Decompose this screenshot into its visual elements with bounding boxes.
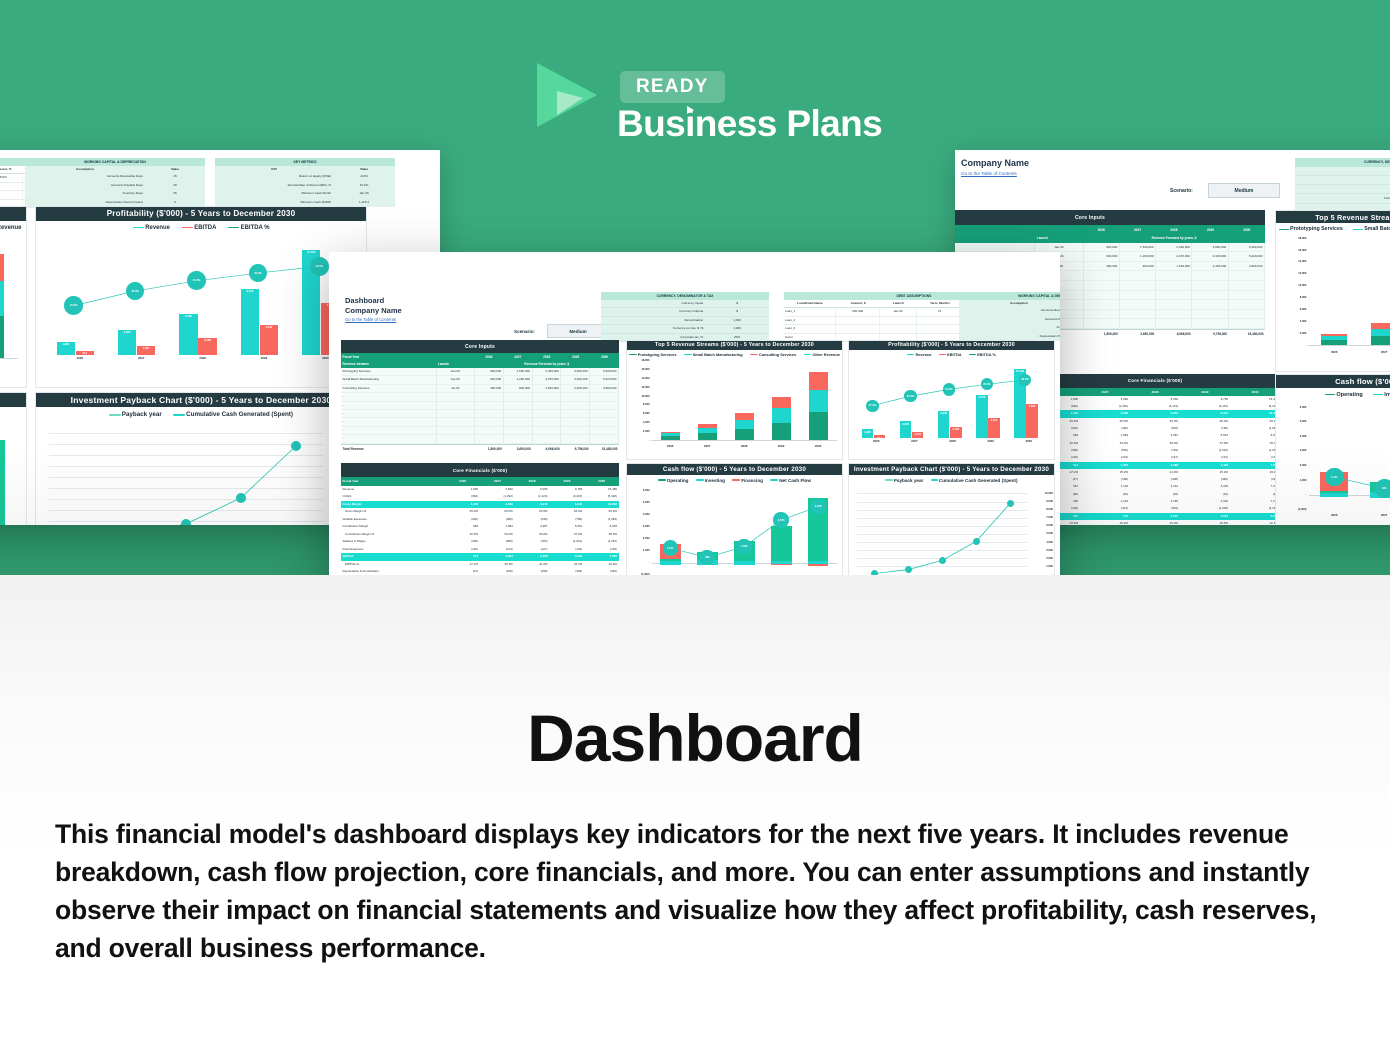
cf-value: (649) <box>1130 505 1180 512</box>
x-tick-label: 2029 <box>763 444 800 448</box>
debt-cell <box>836 317 880 324</box>
cf-value: (127) <box>1130 454 1180 461</box>
cf-value: 4,020 <box>1180 498 1230 505</box>
stream-value <box>504 410 533 417</box>
panel-row-label: Minimum Cash Month <box>215 190 333 197</box>
stream-value: 5,220,000 <box>590 376 619 383</box>
bar-segment <box>0 281 4 316</box>
cf-value: (1,084) <box>584 516 619 524</box>
stream-value <box>1156 281 1192 290</box>
bar-segment <box>0 254 4 281</box>
scenario-select[interactable]: Medium <box>547 324 609 338</box>
plot-area <box>0 238 18 359</box>
cf-value: (783) <box>1130 447 1180 454</box>
forecast-label: Revenue Forecast by years, $ <box>474 362 619 366</box>
core-inputs-row: Consulting ServicesJul-26360,000900,0001… <box>341 385 619 393</box>
stream-value: 2,466,000 <box>1192 262 1228 271</box>
stream-value <box>1156 310 1192 319</box>
cf-value: (131) <box>1180 454 1230 461</box>
stream-launch <box>437 435 475 442</box>
dashboard-heading: Dashboard <box>345 296 384 305</box>
currency-row-label: Currency Outputs <box>601 308 705 315</box>
stream-value <box>590 435 619 442</box>
panel-row-label: Internal Rate of Return (IRR), % <box>215 182 333 189</box>
legend-swatch-icon <box>804 354 812 356</box>
cf-value: 65.0% <box>550 508 585 516</box>
cf-value: 20.9% <box>1080 520 1130 525</box>
cf-row: Contribution Margin %52.0%54.0%56.0%57.0… <box>341 531 619 539</box>
total-value: 6,066,000 <box>1156 330 1192 340</box>
stream-value: 3,960,000 <box>561 368 590 375</box>
stream-value <box>475 402 504 409</box>
legend-swatch-icon <box>1353 229 1363 231</box>
cf-value: 32.5% <box>1230 520 1280 525</box>
stream-value: 6,300,000 <box>1229 243 1265 252</box>
debt-cell: Jan-26 <box>880 308 916 315</box>
legend-item: Prototyping Services <box>1279 226 1343 232</box>
legend-label: Small Batch Manufacturing <box>1364 226 1390 232</box>
currency-row-value: $ <box>705 308 769 315</box>
cf-row: Depreciation & Amortization(47)(168)(298… <box>341 568 619 575</box>
core-financials-year-row: Fiscal Year20262027202820292030 <box>341 477 619 485</box>
chart-title: Top 5 Revenue Streams ($'000) - 5 Years … <box>1276 211 1390 223</box>
stream-value <box>1120 310 1156 319</box>
cf-row: EBITDA5141,3042,4884,4207,592 <box>341 553 619 561</box>
cf-row-label: EBITDA % <box>341 561 445 569</box>
panel-row-label: Accounts Receivable Days <box>959 307 1060 314</box>
debt-header-cell: Amount, $ <box>836 300 880 307</box>
cf-value: 9,756 <box>550 486 585 494</box>
stream-value <box>533 393 562 400</box>
stream-value <box>1192 281 1228 290</box>
cf-row: 4671,1362,1914,0397,201 <box>1030 483 1280 490</box>
panel-title: KEY METRICS <box>215 158 395 166</box>
debt-cell <box>880 325 916 332</box>
total-value: 1,890,000 <box>474 445 503 454</box>
ebitda-percent-bubble: 41.0% <box>187 271 206 290</box>
legend-label: Other Revenue <box>0 225 21 231</box>
stream-value: 1,530,000 <box>504 368 533 375</box>
cf-value: (1,010) <box>550 538 585 546</box>
cf-value: 65.0% <box>1180 418 1230 425</box>
cf-value: 6,341 <box>550 501 585 509</box>
chart-investment-payback: Investment Payback Chart ($'000) - 5 Yea… <box>848 463 1055 575</box>
core-inputs-year: 2026 <box>1083 228 1119 232</box>
cf-value: 1,304 <box>480 553 515 561</box>
cf-value: 54.0% <box>480 531 515 539</box>
spreadsheet-preview-center[interactable]: DashboardCompany NameGo to the Table of … <box>329 252 1060 575</box>
cf-value: 1,890 <box>445 486 480 494</box>
panel-title: WORKING CAPITAL & DEPRECIATION <box>959 292 1060 300</box>
panel-row-value: 16.2% <box>333 182 395 189</box>
stream-value <box>1120 281 1156 290</box>
total-value: 15,480,000 <box>1229 330 1265 340</box>
forecast-label: Revenue Forecast by years, $ <box>1083 236 1265 240</box>
cf-value: 65.0% <box>1080 418 1130 425</box>
stream-value <box>1120 291 1156 300</box>
stream-value <box>1229 291 1265 300</box>
cf-value: (382) <box>550 568 585 575</box>
y-tick-label: 10,000 <box>627 395 650 398</box>
core-inputs-year: 2026 <box>474 355 503 359</box>
currency-row: Currency ex rate, $ / $1,000 <box>601 325 769 333</box>
cf-year: 2027 <box>1080 390 1130 394</box>
cf-value: 27.2% <box>445 561 480 569</box>
stream-name: - <box>341 435 437 442</box>
cf-value: 2,399 <box>480 501 515 509</box>
stream-value <box>533 410 562 417</box>
cf-value: 3,387 <box>1130 432 1180 439</box>
net-cash-flow-line <box>0 393 26 525</box>
chart-cash-flow: Cash flow ($'000) - 5 Years to December … <box>626 463 843 575</box>
panel-header-cell: Assumption <box>959 300 1060 307</box>
panel-row: Accounts Payable Days28 <box>959 316 1060 324</box>
debt-cell: 500,000 <box>836 308 880 315</box>
core-inputs-total-row: Total Revenue1,890,0003,690,0006,066,000… <box>341 444 619 454</box>
debt-cell <box>880 317 916 324</box>
cf-value: 10,062 <box>584 501 619 509</box>
cf-value: 65.0% <box>515 508 550 516</box>
cf-value: 57.0% <box>1180 440 1230 447</box>
cf-value: 25.0% <box>1130 520 1180 525</box>
cf-value: (1,251) <box>1230 447 1280 454</box>
cumulative-cash-line <box>36 393 366 525</box>
cf-value: 4,039 <box>1180 483 1230 490</box>
cf-value: 58.0% <box>584 531 619 539</box>
cf-row: Revenue1,8903,6906,0669,75615,480 <box>341 486 619 494</box>
stream-value: 900,000 <box>1084 243 1120 252</box>
chart-profitability: Profitability ($'000) - 5 Years to Decem… <box>848 340 1055 460</box>
stream-value: 3,330,000 <box>1192 252 1228 261</box>
cf-value: 52.0% <box>445 531 480 539</box>
cf-row-label: Gross Margin <box>341 501 445 509</box>
stream-value: 2,466,000 <box>1156 243 1192 252</box>
stream-value <box>1192 271 1228 280</box>
panel-row-label: Depreciation Period (Years) <box>959 333 1060 340</box>
cumulative-cash-point <box>181 519 191 525</box>
core-inputs-row: - <box>341 393 619 401</box>
stream-launch: Jul-26 <box>437 385 475 392</box>
cf-year: 2028 <box>515 479 550 483</box>
cf-value: 4,420 <box>1180 462 1230 469</box>
key-metrics-panel-left: KEY METRICSKPIValueReturn on Equity (ROE… <box>215 158 395 207</box>
stream-name: Small Batch Manufacturing <box>341 376 437 383</box>
currency-row: Currency Outputs$ <box>601 308 769 316</box>
y-tick-label: 4,000 <box>1276 320 1306 323</box>
cf-value: 1,104 <box>1080 498 1130 505</box>
plot-area <box>652 361 837 440</box>
stream-value <box>561 410 590 417</box>
page-title: Dashboard <box>0 700 1390 776</box>
chart-legend: Prototyping ServicesSmall Batch Manufact… <box>1276 225 1390 235</box>
cf-value: (12) <box>1230 491 1280 498</box>
cf-value: (331) <box>1080 505 1130 512</box>
stream-value <box>561 402 590 409</box>
cf-value: (780) <box>550 516 585 524</box>
panel-row: Accounts Receivable Days15 <box>959 307 1060 315</box>
y-tick-label: 16,000 <box>1276 249 1306 252</box>
legend-label: Other Revenue <box>812 352 840 357</box>
currency-row: Currency Inputs$ <box>1295 167 1390 176</box>
chart-revenue-streams: Top 5 Revenue Streams ($'000) - 5 Years … <box>626 340 843 460</box>
panel-row-label: Depreciation Period (Years) <box>25 199 145 206</box>
cf-value: (32) <box>1080 491 1130 498</box>
legend-swatch-icon <box>1279 229 1289 231</box>
x-tick-label: 2027 <box>689 444 726 448</box>
panel-title: WORKING CAPITAL & DEPRECIATION <box>25 158 205 166</box>
currency-panel: CURRENCY, DENOMINATOR & TAXCurrency Inpu… <box>1295 158 1390 213</box>
cf-value: 9,756 <box>1180 396 1230 403</box>
stream-value <box>1084 291 1120 300</box>
ebitda-percent-line <box>36 207 366 387</box>
table-of-contents-link[interactable]: Go to the Table of Contents <box>345 317 396 322</box>
cf-row: (662)(1,292)(2,123)(3,415)(5,418) <box>1030 403 1280 410</box>
debt-header-cell: Interest, % <box>0 166 23 173</box>
cf-value: (298) <box>515 568 550 575</box>
core-financials-block: Core Financials ($'000)20262027202820292… <box>1030 374 1280 525</box>
y-tick-label: 14,000 <box>627 377 650 380</box>
stream-value <box>1120 271 1156 280</box>
stream-name: Prototyping Services <box>955 243 1035 252</box>
debt-cell <box>0 183 23 190</box>
stream-value <box>475 427 504 434</box>
cf-value: 65.0% <box>480 508 515 516</box>
stream-value <box>504 418 533 425</box>
cf-row: (129)(331)(649)(1,206)(2,157) <box>1030 505 1280 512</box>
core-inputs-year: 2028 <box>532 355 561 359</box>
stream-value <box>1084 271 1120 280</box>
chart-investment-payback-left: Investment Payback Chart ($'000) - 5 Yea… <box>35 392 367 525</box>
cf-row-label: Fixed Expenses <box>341 546 445 554</box>
panel-header-cell: Assumption <box>25 166 145 173</box>
stream-value: 900,000 <box>1120 262 1156 271</box>
debt-header-cell: Term, Months <box>917 300 964 307</box>
currency-row-label: Currency ex rate, $ / $ <box>601 325 705 332</box>
core-inputs-streams-row: Revenue streamsLaunchRevenue Forecast by… <box>955 234 1265 243</box>
stream-value <box>533 435 562 442</box>
currency-panel-title: CURRENCY, DENOMINATOR & TAX <box>601 292 769 300</box>
cf-value: 15,480 <box>584 486 619 494</box>
scenario-label-right: Scenario: <box>1170 188 1193 194</box>
chart-legend: Prototyping ServicesSmall Batch Manufact… <box>0 222 26 233</box>
panel-row: Accounts Receivable Days15 <box>25 173 205 181</box>
cf-value: 3,690 <box>480 486 515 494</box>
panel-header-row: KPIValue <box>215 166 395 173</box>
stream-value: 3,960,000 <box>1229 262 1265 271</box>
total-value: 3,690,000 <box>1119 330 1155 340</box>
panel-row-label: Accounts Payable Days <box>25 182 145 189</box>
cf-value: (382) <box>1180 476 1230 483</box>
total-value: 6,066,000 <box>532 445 561 454</box>
stream-name: Prototyping Services <box>341 368 437 375</box>
chart-cash-flow-right: Cash flow ($'000) - 5 Years to December … <box>1275 374 1390 525</box>
cumulative-cash-point <box>939 557 946 564</box>
core-inputs-year-row: Fiscal Year20262027202820292030 <box>341 353 619 360</box>
cf-value: 1,304 <box>1080 462 1130 469</box>
cf-row-label: Salaries & Wages <box>341 538 445 546</box>
cf-value: (1,292) <box>480 493 515 501</box>
stream-value: 1,530,000 <box>533 385 562 392</box>
cf-value: (124) <box>1080 454 1130 461</box>
cf-row: 1,2292,3993,9436,34110,062 <box>1030 410 1280 417</box>
cf-row: 4301,1042,1654,0207,189 <box>1030 498 1280 505</box>
legend-swatch-icon <box>629 354 637 356</box>
cf-value: 41.0% <box>1130 469 1180 476</box>
core-inputs-title: Core Inputs <box>955 210 1265 225</box>
bar-segment <box>809 390 828 413</box>
scenario-select-right[interactable]: Medium <box>1208 183 1280 198</box>
cf-value: (246) <box>445 516 480 524</box>
currency-row-label: Denomination <box>601 317 705 324</box>
cf-value: (480) <box>1080 425 1130 432</box>
legend-label: Prototyping Services <box>1290 226 1343 232</box>
brand-badge: READY <box>620 71 725 103</box>
cf-value: 2,488 <box>515 553 550 561</box>
bar-segment <box>735 420 754 429</box>
cf-value: (662) <box>445 493 480 501</box>
ebitda-percent-bubble: 41.0% <box>943 383 955 395</box>
stream-value: 360,000 <box>475 385 504 392</box>
fiscal-year-label: Fiscal Year <box>955 228 1036 232</box>
legend-swatch-icon <box>750 354 758 356</box>
stream-launch <box>437 410 475 417</box>
bar-segment <box>1371 329 1390 337</box>
total-label: Total Revenue <box>341 445 474 454</box>
cf-value: (1,251) <box>584 538 619 546</box>
cf-value: 2,399 <box>1080 410 1130 417</box>
cf-value: 54.0% <box>1080 440 1130 447</box>
cf-value: 5,561 <box>550 523 585 531</box>
page-description: This financial model's dashboard display… <box>55 815 1345 968</box>
cf-row: (120)(124)(127)(131)(135) <box>1030 454 1280 461</box>
bar-segment <box>0 316 4 358</box>
cf-row: 9831,9833,3875,5618,978 <box>1030 432 1280 439</box>
cf-year: 2029 <box>1180 390 1230 394</box>
y-tick-label: 6,000 <box>627 412 650 415</box>
stream-value: 3,960,000 <box>590 385 619 392</box>
core-inputs-year: 2029 <box>1192 228 1228 232</box>
cf-row: Gross Margin1,2292,3993,9436,34110,062 <box>341 501 619 509</box>
y-tick-label: 12,000 <box>1276 272 1306 275</box>
panel-row-value: 3 <box>145 199 205 206</box>
cf-value: (5,418) <box>584 493 619 501</box>
table-of-contents-link-right[interactable]: Go to the Table of Contents <box>961 171 1017 176</box>
legend-label: Small Batch Manufacturing <box>693 352 743 357</box>
legend-swatch-icon <box>684 354 692 356</box>
bar-segment <box>1321 336 1347 340</box>
panel-header-cell: KPI <box>215 166 333 173</box>
cf-value: (5,418) <box>1230 403 1280 410</box>
net-cash-flow-bubble: 4,658 <box>810 499 825 514</box>
stream-value: 1,530,000 <box>1120 243 1156 252</box>
cumulative-cash-point <box>236 493 246 503</box>
cf-value: (26) <box>1130 491 1180 498</box>
cumulative-cash-point <box>905 566 912 573</box>
stream-value <box>1192 310 1228 319</box>
core-inputs-year: 2027 <box>1119 228 1155 232</box>
stream-value <box>504 435 533 442</box>
cf-value: 5,032 <box>1230 513 1280 520</box>
y-tick-label: - <box>627 439 650 442</box>
debt-cell: Loan_3 <box>784 325 836 332</box>
cf-value: 1,515 <box>1130 513 1180 520</box>
panel-row: Inventory Days45 <box>959 324 1060 332</box>
core-inputs-row: - <box>341 435 619 443</box>
cf-row: Variable Expenses(246)(480)(546)(780)(1,… <box>341 516 619 524</box>
cf-value: 35.3% <box>1080 469 1130 476</box>
chart-title: Top 5 Revenue Streams ($'000) - 5 Years … <box>627 341 842 350</box>
panel-row-label: Accounts Receivable Days <box>25 173 145 180</box>
bar-segment <box>1321 334 1347 336</box>
stream-value <box>533 427 562 434</box>
core-financials-title: Core Financials ($'000) <box>1030 374 1280 388</box>
cf-value: 7,201 <box>1230 483 1280 490</box>
cf-value: 49.0% <box>1230 469 1280 476</box>
bar-segment <box>735 429 754 440</box>
legend-item: Small Batch Manufacturing <box>684 352 743 357</box>
panel-header-row: AssumptionValue <box>959 300 1060 307</box>
cf-row-label: Depreciation & Amortization <box>341 568 445 575</box>
panel-row-value: 28 <box>145 182 205 189</box>
cf-year: 2027 <box>480 479 515 483</box>
cf-value: 49.0% <box>584 561 619 569</box>
cf-value: 1,983 <box>1080 432 1130 439</box>
panel-row: Return on Equity (ROE)13.84 <box>215 173 395 181</box>
core-inputs-year: 2030 <box>590 355 619 359</box>
x-tick-label: 2027 <box>1359 350 1390 354</box>
stream-name: - <box>341 418 437 425</box>
cf-value: 56.0% <box>515 531 550 539</box>
bar-segment <box>1371 323 1390 328</box>
cf-row: Fixed Expenses(120)(124)(127)(131)(135) <box>341 546 619 554</box>
ebitda-percent-bubble: 27.2% <box>866 400 878 412</box>
cf-value: 1,229 <box>445 501 480 509</box>
stream-value <box>475 418 504 425</box>
cf-value: (391) <box>584 568 619 575</box>
cf-value: (1,010) <box>1180 447 1230 454</box>
y-tick-label: 2,000 <box>627 430 650 433</box>
y-tick-label: 18,000 <box>1276 237 1306 240</box>
stream-value: 3,960,000 <box>1192 243 1228 252</box>
cf-value: 7,189 <box>1230 498 1280 505</box>
cf-value: (2,157) <box>1230 505 1280 512</box>
total-value: 1,890,000 <box>1083 330 1119 340</box>
cf-row: (47)(168)(298)(382)(391) <box>1030 476 1280 483</box>
stream-value <box>533 418 562 425</box>
cf-value: (131) <box>550 546 585 554</box>
legend-item: Prototyping Services <box>629 352 676 357</box>
cf-value: (391) <box>1230 476 1280 483</box>
cf-value: (127) <box>515 546 550 554</box>
scenario-label: Scenario: <box>514 329 535 334</box>
y-tick-label: - <box>1276 344 1306 347</box>
working-capital-panel: WORKING CAPITAL & DEPRECIATIONAssumption… <box>959 292 1060 341</box>
core-financials-year-row: 20262027202820292030 <box>1030 388 1280 396</box>
currency-row-label: Currency Inputs <box>1295 167 1390 175</box>
stream-value <box>561 427 590 434</box>
stream-value <box>475 393 504 400</box>
stream-value <box>1229 271 1265 280</box>
stream-value <box>1084 281 1120 290</box>
core-inputs-row: Small Batch ManufacturingApr-26630,0001,… <box>341 376 619 384</box>
cf-value: (565) <box>1080 447 1130 454</box>
launch-label: Launch <box>437 362 475 366</box>
debt-header-cell: Loan/Grant Name <box>784 300 836 307</box>
stream-value <box>1156 291 1192 300</box>
legend-item: Small Batch Manufacturing <box>1353 226 1390 232</box>
stream-value: 6,300,000 <box>590 368 619 375</box>
net-cash-flow-bubble: 1,211 <box>1325 468 1344 487</box>
